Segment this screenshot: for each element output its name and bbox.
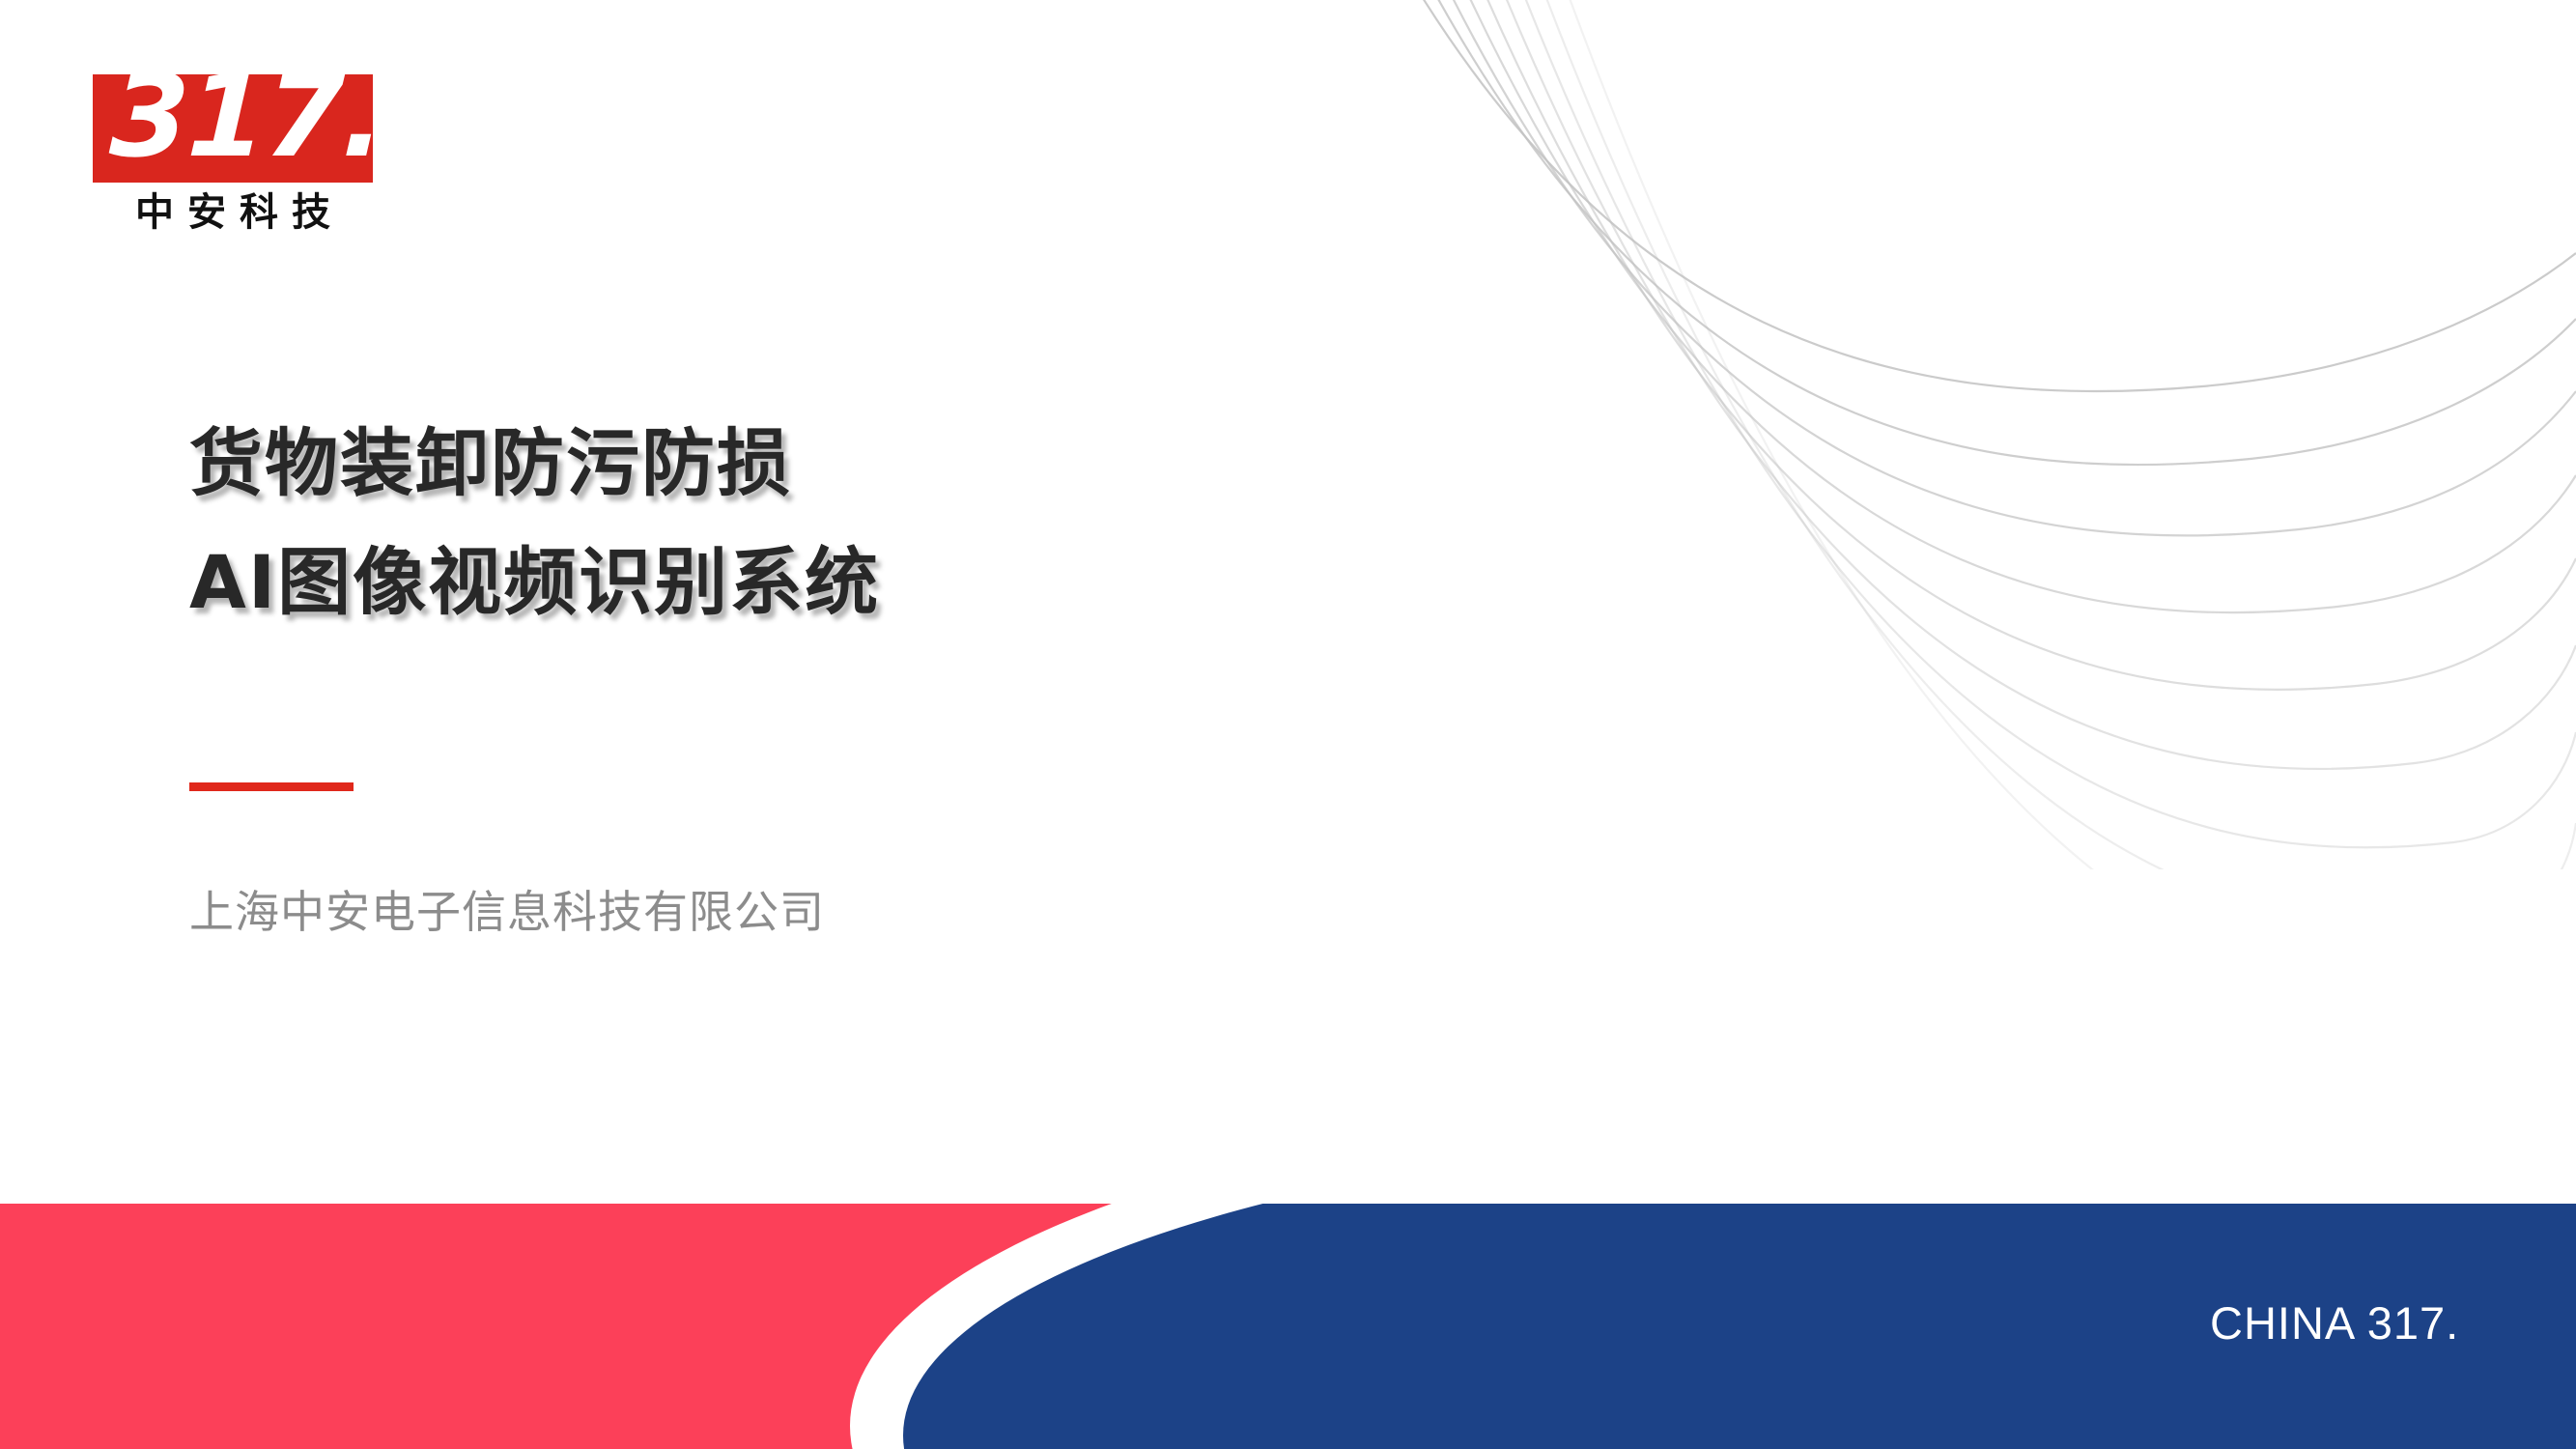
slide-title-line-2: AI图像视频识别系统 (189, 523, 1445, 641)
company-logo: 317. 中安科技 (93, 74, 382, 233)
slide-subtitle-company: 上海中安电子信息科技有限公司 (189, 877, 825, 941)
curved-wave-lines-decoration (1333, 0, 2576, 869)
logo-mark-317: 317. (93, 74, 373, 183)
logo-company-short-name: 中安科技 (93, 192, 373, 233)
footer-brand-label: CHINA 317. (2210, 1296, 2459, 1350)
logo-mark-text: 317. (108, 74, 373, 173)
presentation-slide: 317. 中安科技 货物装卸防污防损 AI图像视频识别系统 上海中安电子信息科技… (0, 0, 2576, 1449)
title-divider-rule (189, 782, 354, 791)
footer-band (0, 1204, 2576, 1449)
slide-title-line-1: 货物装卸防污防损 (189, 404, 1445, 523)
slide-title: 货物装卸防污防损 AI图像视频识别系统 (189, 404, 1445, 641)
